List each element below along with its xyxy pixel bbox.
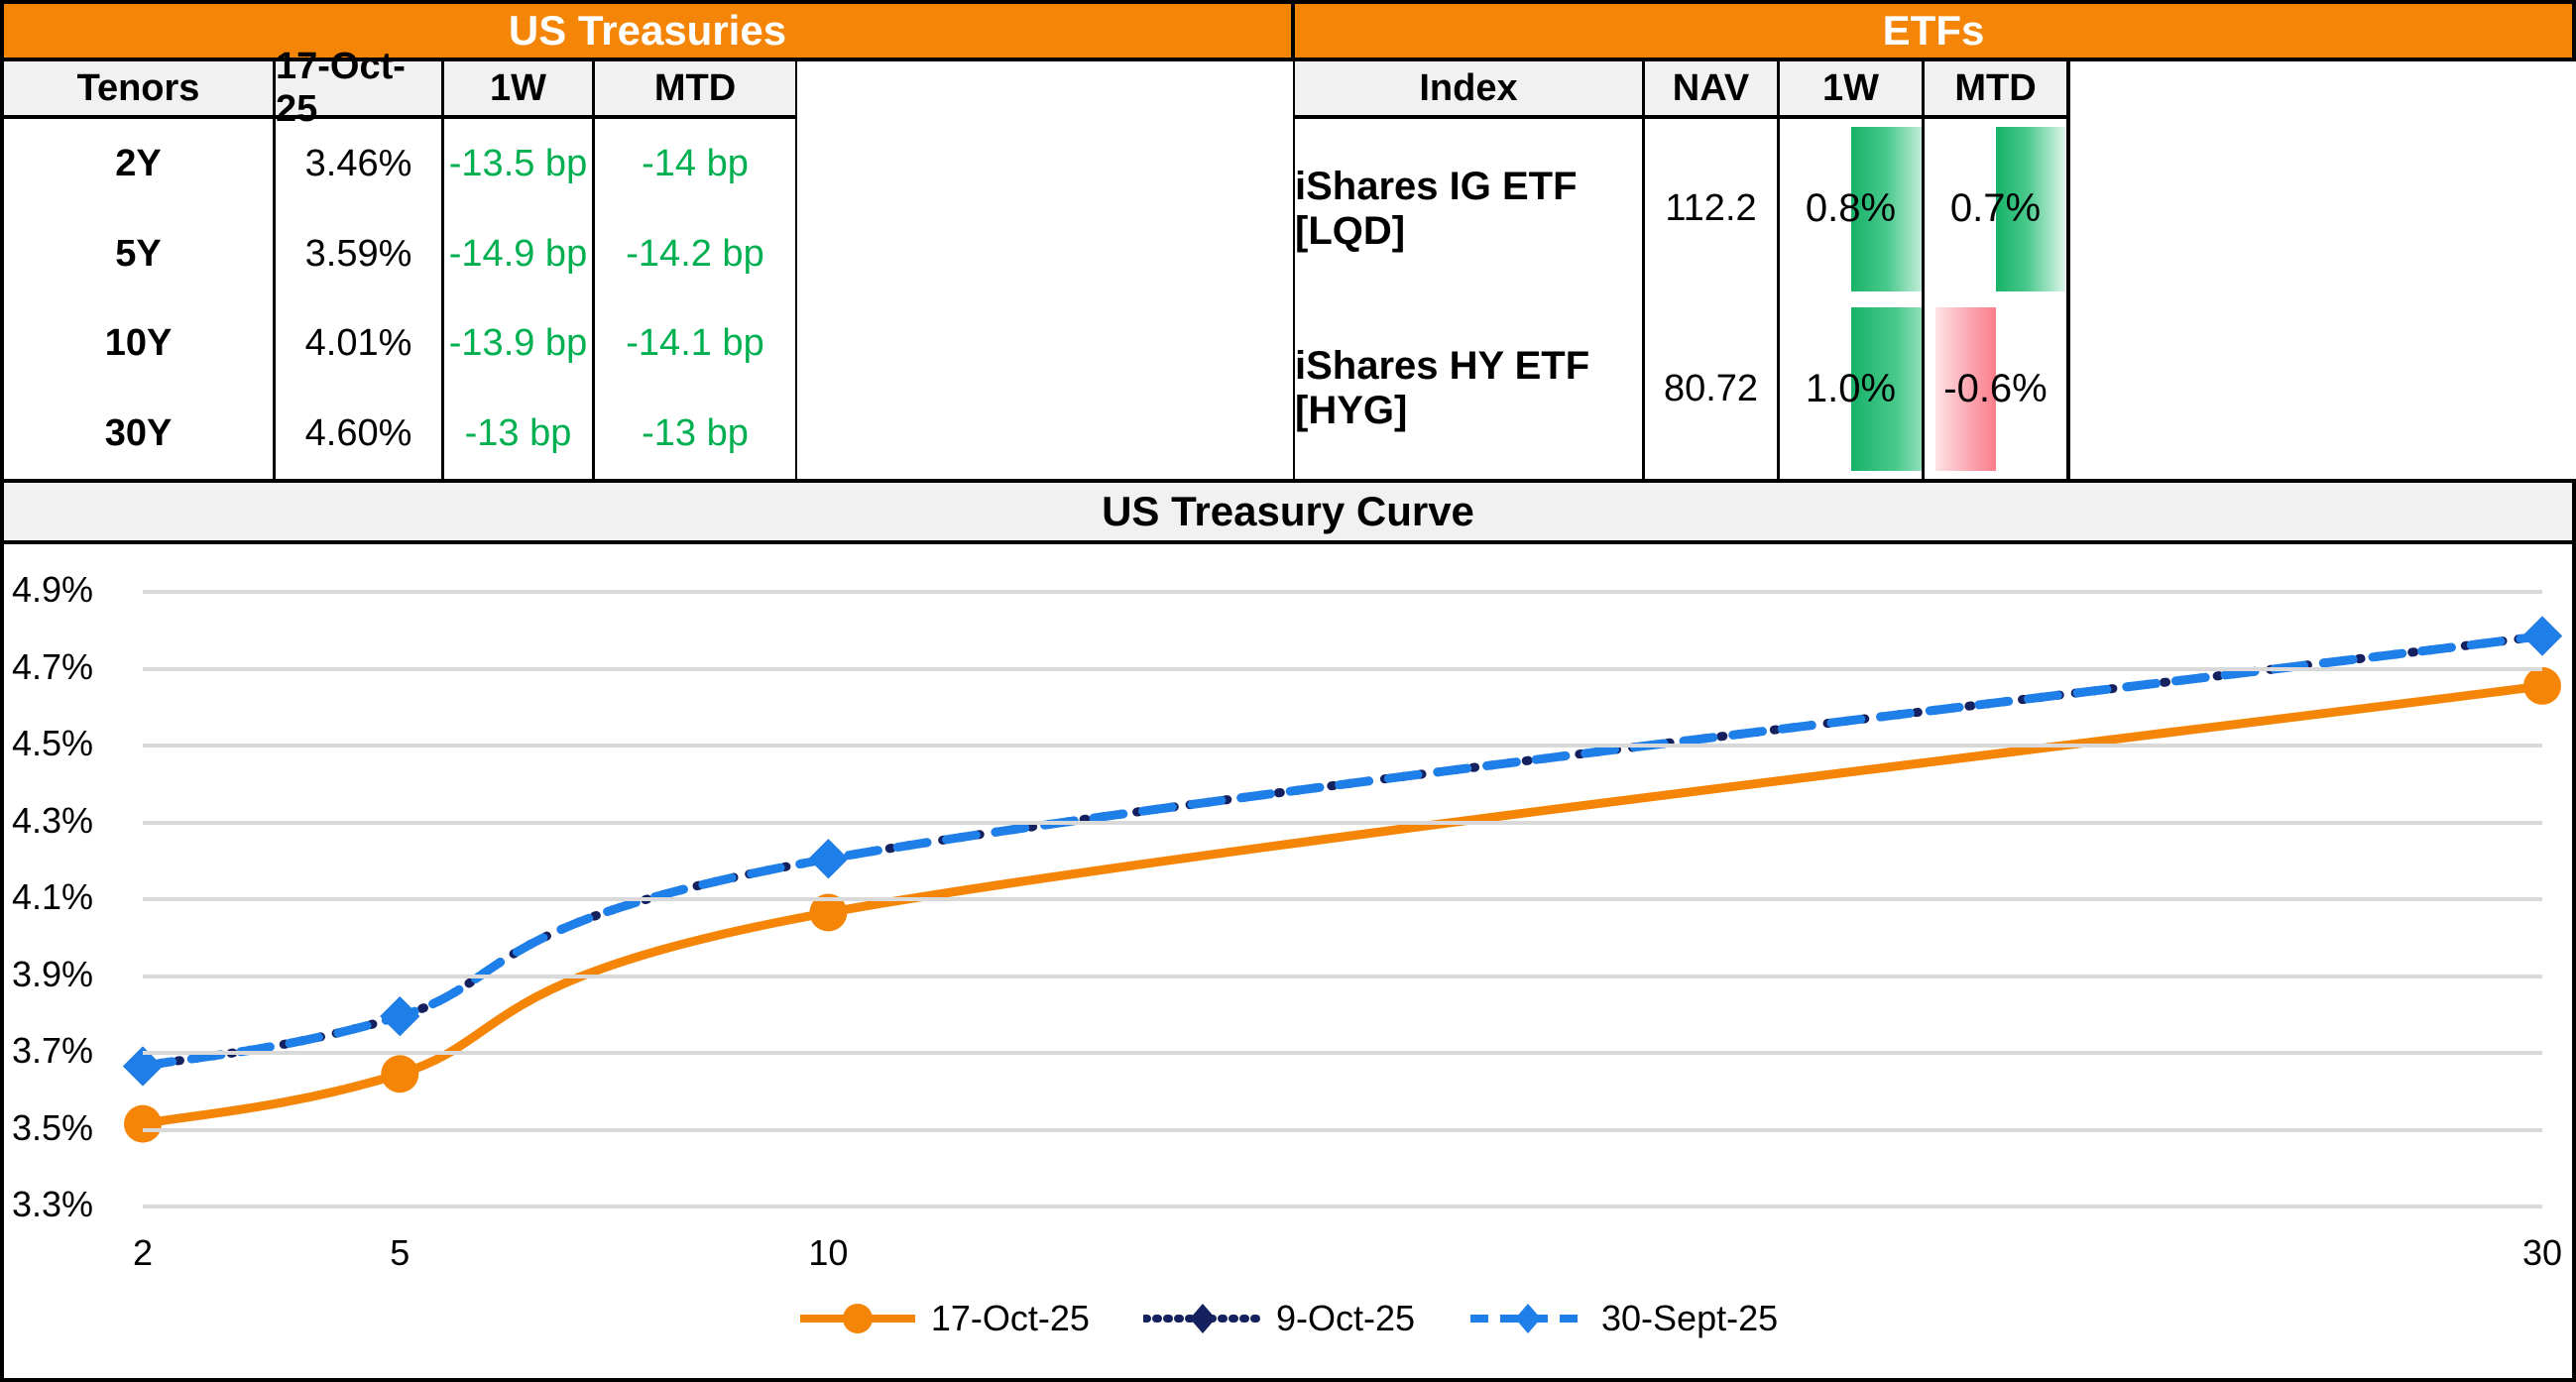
legend-item-0[interactable]: 17-Oct-25 <box>798 1298 1090 1339</box>
us-treasuries-section-title: US Treasuries <box>0 0 1293 61</box>
y-axis-tick-label: 3.7% <box>0 1030 93 1072</box>
tenor-cell: 30Y <box>4 389 276 479</box>
change-1w-cell: -13 bp <box>444 389 595 479</box>
us-treasuries-panel: US Treasuries Tenors 17-Oct-25 1W MTD 2Y… <box>0 0 1293 483</box>
treasuries-body: 2Y 3.46% -13.5 bp -14 bp 5Y 3.59% -14.9 … <box>0 119 1293 483</box>
series-marker-2 <box>808 839 848 878</box>
y-axis-tick-label: 3.9% <box>0 954 93 995</box>
legend-marker-icon <box>1468 1302 1587 1335</box>
etf-nav-cell: 112.2 <box>1645 119 1780 299</box>
x-axis-tick-label: 30 <box>2522 1232 2562 1274</box>
treasuries-header-row: Tenors 17-Oct-25 1W MTD <box>0 61 1293 119</box>
gridline <box>143 1051 2542 1055</box>
etf-mtd-value: 0.7% <box>1950 186 2041 231</box>
treasuries-col-tenors: Tenors <box>4 61 276 119</box>
table-row: iShares IG ETF [LQD] 112.2 0.8% 0.7% <box>1295 119 2576 299</box>
etfs-header-row: Index NAV 1W MTD <box>1293 61 2576 119</box>
etf-name-cell: iShares IG ETF [LQD] <box>1295 119 1645 299</box>
y-axis-tick-label: 3.5% <box>0 1107 93 1149</box>
etf-nav-cell: 80.72 <box>1645 299 1780 480</box>
table-row: 10Y 4.01% -13.9 bp -14.1 bp <box>4 299 1293 390</box>
etfs-panel: ETFs Index NAV 1W MTD iShares IG ETF [LQ… <box>1293 0 2576 483</box>
treasuries-col-1w: 1W <box>444 61 595 119</box>
etf-mtd-cell: -0.6% <box>1925 299 2070 480</box>
y-axis-tick-label: 4.7% <box>0 646 93 688</box>
gridline <box>143 667 2542 671</box>
legend-item-2[interactable]: 30-Sept-25 <box>1468 1298 1778 1339</box>
series-line-0 <box>143 686 2542 1124</box>
change-mtd-cell: -13 bp <box>595 389 797 479</box>
gridline <box>143 744 2542 748</box>
x-axis-tick-label: 2 <box>133 1232 153 1274</box>
y-axis-tick-label: 3.3% <box>0 1184 93 1225</box>
etfs-section-title: ETFs <box>1293 0 2576 61</box>
treasuries-col-mtd: MTD <box>595 61 797 119</box>
series-marker-0 <box>2523 667 2561 705</box>
series-marker-0 <box>381 1055 418 1093</box>
table-row: iShares HY ETF [HYG] 80.72 1.0% -0.6% <box>1295 299 2576 480</box>
change-1w-cell: -13.9 bp <box>444 299 595 390</box>
treasuries-col-date: 17-Oct-25 <box>276 61 444 119</box>
legend-label-1: 9-Oct-25 <box>1276 1298 1415 1339</box>
x-axis-tick-label: 10 <box>808 1232 848 1274</box>
table-row: 5Y 3.59% -14.9 bp -14.2 bp <box>4 209 1293 299</box>
chart-title: US Treasury Curve <box>0 483 2576 544</box>
change-mtd-cell: -14.1 bp <box>595 299 797 390</box>
etfs-col-index: Index <box>1295 61 1645 119</box>
table-row: 30Y 4.60% -13 bp -13 bp <box>4 389 1293 479</box>
etf-mtd-value: -0.6% <box>1943 367 2048 411</box>
level-cell: 4.01% <box>276 299 444 390</box>
legend-label-0: 17-Oct-25 <box>931 1298 1090 1339</box>
chart-plot-area: 3.3%3.5%3.7%3.9%4.1%4.3%4.5%4.7%4.9%2510… <box>143 590 2542 1205</box>
tenor-cell: 10Y <box>4 299 276 390</box>
series-marker-2 <box>2522 617 2562 656</box>
etf-1w-value: 1.0% <box>1806 367 1896 411</box>
etfs-col-1w: 1W <box>1780 61 1925 119</box>
gridline <box>143 1128 2542 1132</box>
tenor-cell: 5Y <box>4 209 276 299</box>
etf-1w-value: 0.8% <box>1806 186 1896 231</box>
us-treasury-curve-chart: 3.3%3.5%3.7%3.9%4.1%4.3%4.5%4.7%4.9%2510… <box>0 544 2576 1382</box>
etf-1w-cell: 1.0% <box>1780 299 1925 480</box>
legend-item-1[interactable]: 9-Oct-25 <box>1143 1298 1415 1339</box>
gridline <box>143 1205 2542 1209</box>
level-cell: 3.59% <box>276 209 444 299</box>
change-1w-cell: -14.9 bp <box>444 209 595 299</box>
etfs-col-nav: NAV <box>1645 61 1780 119</box>
series-marker-2 <box>380 996 419 1036</box>
y-axis-tick-label: 4.9% <box>0 569 93 611</box>
gridline <box>143 590 2542 594</box>
y-axis-tick-label: 4.1% <box>0 876 93 918</box>
series-line-2 <box>143 636 2542 1067</box>
y-axis-tick-label: 4.3% <box>0 800 93 842</box>
etf-1w-cell: 0.8% <box>1780 119 1925 299</box>
change-mtd-cell: -14 bp <box>595 119 797 209</box>
legend-marker-icon <box>798 1302 917 1335</box>
etf-mtd-cell: 0.7% <box>1925 119 2070 299</box>
dashboard-page: US Treasuries Tenors 17-Oct-25 1W MTD 2Y… <box>0 0 2576 1382</box>
change-1w-cell: -13.5 bp <box>444 119 595 209</box>
legend-marker-icon <box>1143 1302 1262 1335</box>
series-marker-0 <box>124 1105 162 1143</box>
x-axis-tick-label: 5 <box>390 1232 410 1274</box>
table-row: 2Y 3.46% -13.5 bp -14 bp <box>4 119 1293 209</box>
gridline <box>143 975 2542 979</box>
y-axis-tick-label: 4.5% <box>0 723 93 764</box>
etf-name-cell: iShares HY ETF [HYG] <box>1295 299 1645 480</box>
tenor-cell: 2Y <box>4 119 276 209</box>
etfs-col-mtd: MTD <box>1925 61 2070 119</box>
series-line-1 <box>143 636 2542 1067</box>
change-mtd-cell: -14.2 bp <box>595 209 797 299</box>
gridline <box>143 821 2542 825</box>
level-cell: 4.60% <box>276 389 444 479</box>
summary-tables: US Treasuries Tenors 17-Oct-25 1W MTD 2Y… <box>0 0 2576 483</box>
chart-legend: 17-Oct-25 9-Oct-25 30-Sept-25 <box>4 1298 2572 1339</box>
gridline <box>143 897 2542 901</box>
level-cell: 3.46% <box>276 119 444 209</box>
etfs-body: iShares IG ETF [LQD] 112.2 0.8% 0.7% iSh… <box>1293 119 2576 483</box>
legend-label-2: 30-Sept-25 <box>1601 1298 1778 1339</box>
